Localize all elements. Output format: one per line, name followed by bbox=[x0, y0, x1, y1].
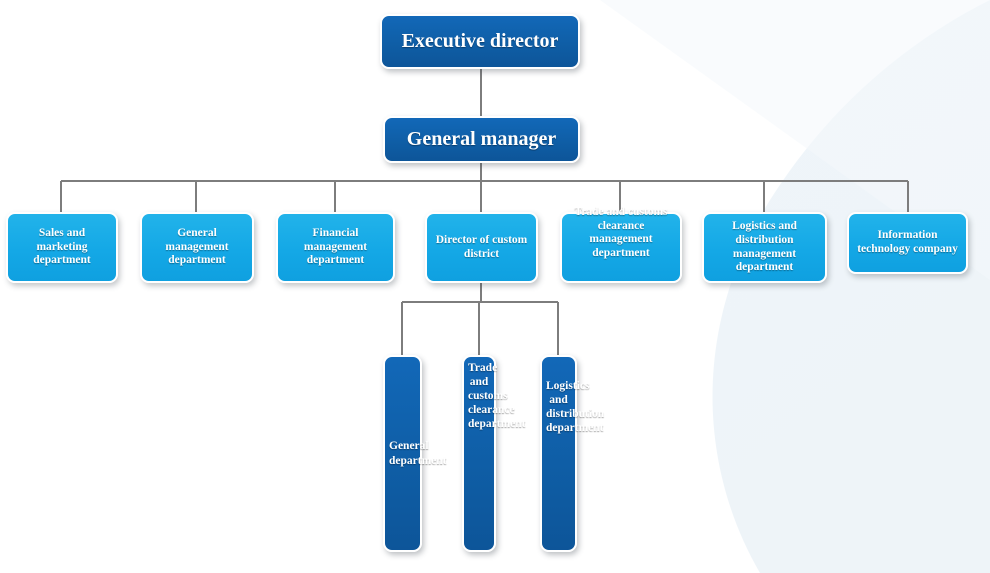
node-trade-and-customs-clearance-management-department[interactable]: Trade and customs clearance management d… bbox=[560, 212, 682, 283]
node-general-department-label: General department bbox=[385, 439, 420, 467]
node-executive-director-label: Executive director bbox=[382, 30, 578, 54]
node-logistics-and-distribution-department[interactable]: Logistics and distribution department bbox=[540, 355, 577, 552]
node-director-of-custom-district-label: Director of custom district bbox=[427, 234, 536, 261]
node-general-manager-label: General manager bbox=[385, 128, 578, 152]
node-sales-and-marketing-department[interactable]: Sales and marketing department bbox=[6, 212, 118, 283]
node-financial-management-department[interactable]: Financial management department bbox=[276, 212, 395, 283]
node-sales-and-marketing-department-label: Sales and marketing department bbox=[8, 227, 116, 268]
node-trade-and-customs-clearance-department[interactable]: Trade and customs clearance department bbox=[462, 355, 496, 552]
node-trade-and-customs-clearance-department-label: Trade and customs clearance department bbox=[464, 361, 494, 431]
node-trade-and-customs-clearance-management-department-label: Trade and customs clearance management d… bbox=[562, 206, 680, 260]
node-director-of-custom-district[interactable]: Director of custom district bbox=[425, 212, 538, 283]
node-general-manager[interactable]: General manager bbox=[383, 116, 580, 163]
node-logistics-and-distribution-management-department-label: Logistics and distribution management de… bbox=[704, 220, 825, 274]
node-information-technology-company-label: Information technology company bbox=[849, 229, 966, 256]
node-information-technology-company[interactable]: Information technology company bbox=[847, 212, 968, 274]
node-logistics-and-distribution-management-department[interactable]: Logistics and distribution management de… bbox=[702, 212, 827, 283]
node-general-management-department-label: General management department bbox=[142, 227, 252, 268]
node-general-management-department[interactable]: General management department bbox=[140, 212, 254, 283]
org-chart-canvas: Executive director General manager Sales… bbox=[0, 0, 990, 573]
node-financial-management-department-label: Financial management department bbox=[278, 227, 393, 268]
node-executive-director[interactable]: Executive director bbox=[380, 14, 580, 69]
node-logistics-and-distribution-department-label: Logistics and distribution department bbox=[542, 379, 575, 435]
node-general-department[interactable]: General department bbox=[383, 355, 422, 552]
